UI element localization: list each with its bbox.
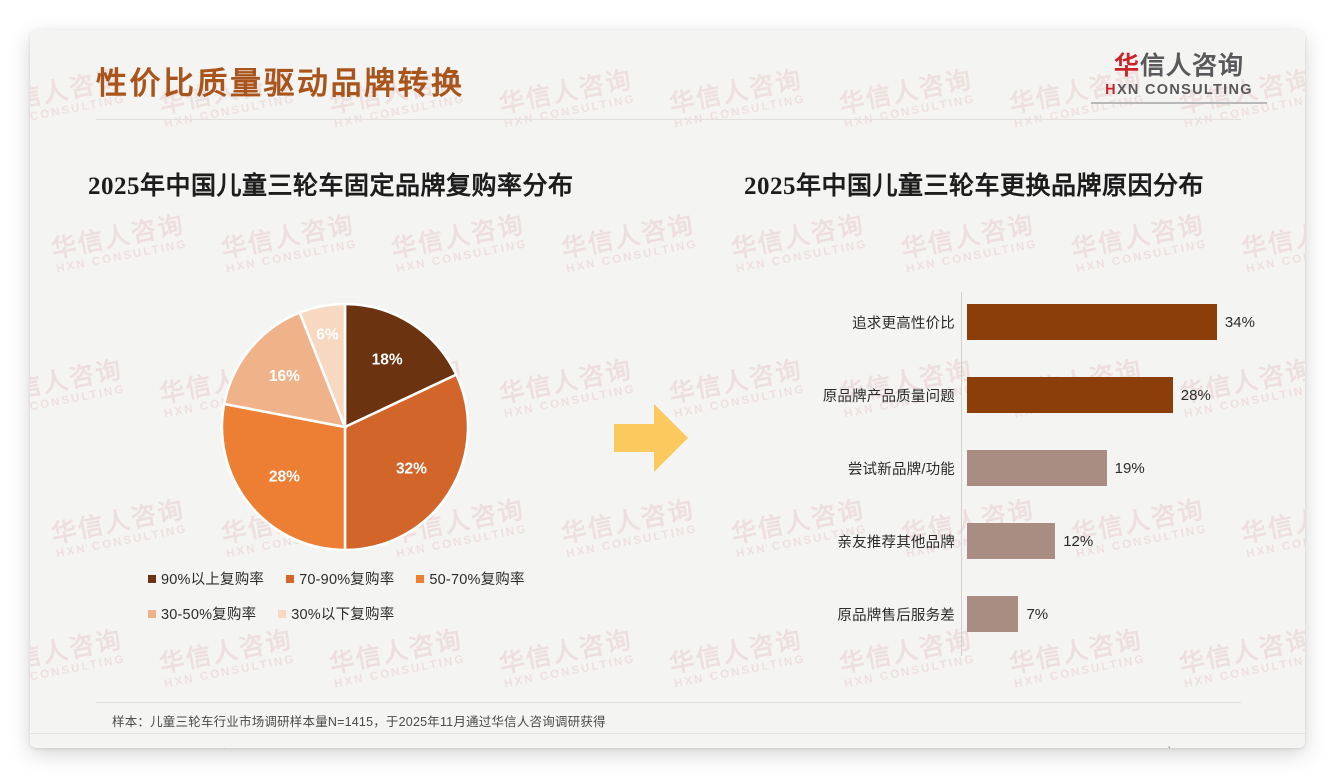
bar-row: 尝试新品牌/功能19% — [800, 450, 1270, 486]
right-chart-title: 2025年中国儿童三轮车更换品牌原因分布 — [744, 166, 1204, 202]
pie-slice-label: 28% — [269, 468, 300, 485]
watermark-tile: 华信人咨询HXN CONSULTING — [1240, 212, 1305, 275]
legend-item[interactable]: 50-70%复购率 — [416, 568, 524, 589]
left-chart-title: 2025年中国儿童三轮车固定品牌复购率分布 — [88, 166, 574, 202]
bar-value-label: 19% — [1115, 460, 1145, 477]
bar-fill[interactable] — [967, 596, 1018, 632]
slide-card: 华信人咨询HXN CONSULTING华信人咨询HXN CONSULTING华信… — [30, 30, 1305, 748]
logo-chinese-text: 华信人咨询 — [1091, 52, 1267, 81]
legend-swatch-icon — [148, 610, 156, 618]
bar-fill[interactable] — [967, 304, 1217, 340]
watermark-tile: 华信人咨询HXN CONSULTING — [730, 212, 870, 275]
watermark-tile: 华信人咨询HXN CONSULTING — [560, 212, 700, 275]
header-divider — [96, 119, 1241, 120]
watermark-tile: 华信人咨询HXN CONSULTING — [50, 212, 190, 275]
bar-track: 7% — [967, 596, 1270, 632]
bar-row: 原品牌产品质量问题28% — [800, 377, 1270, 413]
bar-category-label: 追求更高性价比 — [800, 312, 967, 333]
watermark-tile: 华信人咨询HXN CONSULTING — [900, 212, 1040, 275]
arrow-right-svg — [614, 402, 690, 474]
watermark-tile: 华信人咨询HXN CONSULTING — [390, 212, 530, 275]
legend-item[interactable]: 90%以上复购率 — [148, 568, 264, 589]
bar-track: 12% — [967, 523, 1270, 559]
pie-slice-label: 16% — [269, 368, 300, 385]
logo-english-text: HXN CONSULTING — [1091, 82, 1267, 98]
footer-divider — [30, 733, 1305, 734]
bar-category-label: 亲友推荐其他品牌 — [800, 531, 967, 552]
legend-label: 30%以下复购率 — [291, 603, 394, 624]
logo-en-rest: XN CONSULTING — [1117, 82, 1253, 98]
watermark-tile: 华信人咨询HXN CONSULTING — [668, 627, 808, 690]
bar-value-label: 34% — [1225, 314, 1255, 331]
switch-reason-bar-chart: 追求更高性价比34%原品牌产品质量问题28%尝试新品牌/功能19%亲友推荐其他品… — [800, 288, 1270, 660]
bar-category-label: 原品牌产品质量问题 — [800, 385, 967, 406]
bar-row: 亲友推荐其他品牌12% — [800, 523, 1270, 559]
screenshot-root: 华信人咨询HXN CONSULTING华信人咨询HXN CONSULTING华信… — [0, 0, 1340, 780]
watermark-tile: 华信人咨询HXN CONSULTING — [30, 357, 127, 420]
watermark-tile: 华信人咨询HXN CONSULTING — [560, 497, 700, 560]
footnote-divider — [96, 702, 1241, 703]
bar-fill[interactable] — [967, 377, 1173, 413]
watermark-tile: 华信人咨询HXN CONSULTING — [30, 627, 127, 690]
bar-value-label: 12% — [1063, 533, 1093, 550]
legend-swatch-icon — [286, 575, 294, 583]
legend-label: 30-50%复购率 — [161, 603, 256, 624]
bar-track: 19% — [967, 450, 1270, 486]
legend-row: 30-50%复购率30%以下复购率 — [148, 603, 618, 624]
legend-item[interactable]: 30%以下复购率 — [278, 603, 394, 624]
legend-label: 90%以上复购率 — [161, 568, 264, 589]
legend-item[interactable]: 70-90%复购率 — [286, 568, 394, 589]
legend-label: 70-90%复购率 — [299, 568, 394, 589]
pie-slice-label: 6% — [316, 326, 339, 343]
logo-cn-accent-char: 华 — [1114, 52, 1140, 80]
pie-legend: 90%以上复购率70-90%复购率50-70%复购率30-50%复购率30%以下… — [148, 568, 618, 638]
pie-svg: 18%32%28%16%6% — [220, 302, 470, 552]
bar-category-label: 原品牌售后服务差 — [800, 604, 967, 625]
company-logo: 华信人咨询 HXN CONSULTING — [1091, 52, 1267, 104]
arrow-right-icon — [614, 402, 690, 474]
bar-track: 28% — [967, 377, 1270, 413]
website-url: www.hxrcon.com — [1136, 744, 1237, 748]
bar-fill[interactable] — [967, 450, 1107, 486]
bar-row: 追求更高性价比34% — [800, 304, 1270, 340]
legend-swatch-icon — [148, 575, 156, 583]
pie-slice-label: 18% — [372, 352, 403, 369]
legend-swatch-icon — [278, 610, 286, 618]
watermark-tile: 华信人咨询HXN CONSULTING — [50, 497, 190, 560]
logo-en-accent-char: H — [1105, 82, 1117, 98]
bar-category-label: 尝试新品牌/功能 — [800, 458, 967, 479]
watermark-tile: 华信人咨询HXN CONSULTING — [1070, 212, 1210, 275]
legend-row: 90%以上复购率70-90%复购率50-70%复购率 — [148, 568, 618, 589]
page-title: 性价比质量驱动品牌转换 — [96, 58, 465, 103]
bar-track: 34% — [967, 304, 1270, 340]
bar-fill[interactable] — [967, 523, 1055, 559]
bar-value-label: 28% — [1181, 387, 1211, 404]
sample-note: 样本：儿童三轮车行业市场调研样本量N=1415，于2025年11月通过华信人咨询… — [112, 711, 606, 730]
slide-header: 性价比质量驱动品牌转换 华信人咨询 HXN CONSULTING — [30, 30, 1305, 120]
repurchase-rate-pie-chart: 18%32%28%16%6% — [220, 302, 470, 552]
legend-item[interactable]: 30-50%复购率 — [148, 603, 256, 624]
bar-value-label: 7% — [1026, 606, 1048, 623]
pie-slice-label: 32% — [396, 460, 427, 477]
logo-cn-rest: 信人咨询 — [1140, 52, 1244, 80]
watermark-tile: 华信人咨询HXN CONSULTING — [220, 212, 360, 275]
legend-label: 50-70%复购率 — [429, 568, 524, 589]
copyright-text: ©2026.1 HXR华信人咨询 — [96, 744, 245, 748]
legend-swatch-icon — [416, 575, 424, 583]
bar-row: 原品牌售后服务差7% — [800, 596, 1270, 632]
